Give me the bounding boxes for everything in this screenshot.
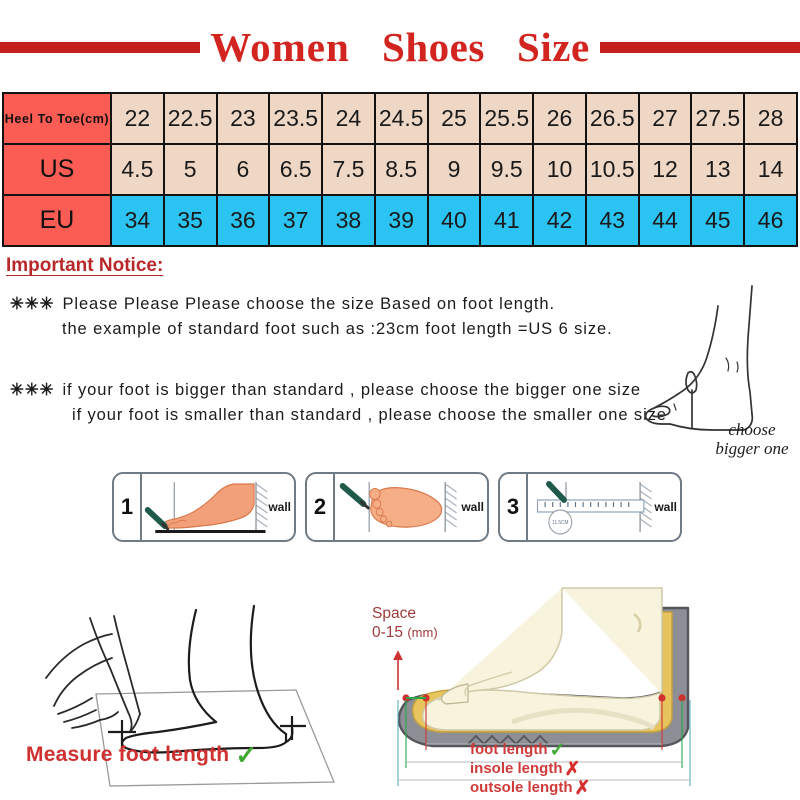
notice-block-2: ✳✳✳if your foot is bigger than standard … <box>10 378 710 428</box>
cell-eu: 44 <box>639 195 692 246</box>
dimension-label-text: foot length <box>470 741 547 758</box>
asterisk-marker: ✳✳✳ <box>10 381 54 399</box>
cell-eu: 40 <box>428 195 481 246</box>
cell-cm: 25 <box>428 93 481 144</box>
table-row: Heel To Toe(cm) 22 22.5 23 23.5 24 24.5 … <box>3 93 797 144</box>
cell-cm: 26 <box>533 93 586 144</box>
cell-us: 9 <box>428 144 481 195</box>
cell-cm: 22 <box>111 93 164 144</box>
cell-eu: 38 <box>322 195 375 246</box>
cell-eu: 39 <box>375 195 428 246</box>
notice-line: ✳✳✳if your foot is bigger than standard … <box>10 378 710 403</box>
cell-us: 5 <box>164 144 217 195</box>
table-row: EU 34 35 36 37 38 39 40 41 42 43 44 45 4… <box>3 195 797 246</box>
cell-cm: 27 <box>639 93 692 144</box>
cell-cm: 23.5 <box>269 93 322 144</box>
notice-text: the example of standard foot such as :23… <box>62 320 613 338</box>
notice-block-1: ✳✳✳Please Please Please choose the size … <box>10 292 710 342</box>
cell-cm: 23 <box>217 93 270 144</box>
step-panel-1: 1 <box>112 472 296 542</box>
foot-caption-line-2: bigger one <box>692 439 800 458</box>
cross-icon: ✗ <box>565 759 581 780</box>
row-label-eu: EU <box>3 195 111 246</box>
row-label-us: US <box>3 144 111 195</box>
dimension-label-text: insole length <box>470 760 563 777</box>
cell-cm: 24 <box>322 93 375 144</box>
cell-us: 8.5 <box>375 144 428 195</box>
notice-line: ✳✳✳Please Please Please choose the size … <box>10 292 710 317</box>
cell-eu: 45 <box>691 195 744 246</box>
space-label-line-1: Space <box>372 604 438 623</box>
space-label-unit: (mm) <box>407 625 437 640</box>
cell-us: 4.5 <box>111 144 164 195</box>
notice-line: if your foot is smaller than standard , … <box>10 403 710 428</box>
wall-label: wall <box>461 500 484 514</box>
page-title-word-2: Shoes <box>382 24 485 70</box>
step-panel-2: 2 <box>305 472 489 542</box>
cell-eu: 43 <box>586 195 639 246</box>
cell-eu: 37 <box>269 195 322 246</box>
cell-us: 6.5 <box>269 144 322 195</box>
cell-eu: 42 <box>533 195 586 246</box>
cell-cm: 27.5 <box>691 93 744 144</box>
cell-cm: 22.5 <box>164 93 217 144</box>
header-decorative-bar-left <box>0 42 200 53</box>
measure-foot-caption: Measure foot length✓ <box>26 742 257 768</box>
cell-us: 10 <box>533 144 586 195</box>
cross-icon: ✗ <box>575 778 591 799</box>
cell-us: 13 <box>691 144 744 195</box>
step-2-illustration: wall <box>335 474 487 540</box>
dimension-label-outsole-length: outsole length✗ <box>470 778 730 798</box>
cell-eu: 34 <box>111 195 164 246</box>
wall-label: wall <box>654 500 677 514</box>
step-number-1: 1 <box>114 474 142 540</box>
page-title-word-1: Women <box>210 24 349 70</box>
notice-text: if your foot is bigger than standard , p… <box>62 381 640 399</box>
cell-us: 9.5 <box>480 144 533 195</box>
cell-us: 12 <box>639 144 692 195</box>
size-conversion-table: Heel To Toe(cm) 22 22.5 23 23.5 24 24.5 … <box>2 92 798 247</box>
cell-cm: 26.5 <box>586 93 639 144</box>
cell-cm: 28 <box>744 93 797 144</box>
step-3-illustration: 11.5CM wall <box>528 474 680 540</box>
measurement-steps: 1 <box>112 472 682 542</box>
cell-us: 7.5 <box>322 144 375 195</box>
row-label-heel-to-toe: Heel To Toe(cm) <box>3 93 111 144</box>
check-icon: ✓ <box>549 740 565 761</box>
cell-eu: 36 <box>217 195 270 246</box>
foot-sketch-caption: choose bigger one <box>692 420 800 458</box>
page-title: Women Shoes Size <box>204 23 595 71</box>
table-row: US 4.5 5 6 6.5 7.5 8.5 9 9.5 10 10.5 12 … <box>3 144 797 195</box>
page-title-word-3: Size <box>517 24 590 70</box>
dimension-label-insole-length: insole length✗ <box>470 759 730 779</box>
cell-cm: 24.5 <box>375 93 428 144</box>
header-decorative-bar-right <box>600 42 800 53</box>
notice-line: the example of standard foot such as :23… <box>10 317 710 342</box>
magnifier-measure-text: 11.5CM <box>552 520 568 526</box>
space-annotation: Space 0-15 (mm) <box>372 604 438 642</box>
step-number-3: 3 <box>500 474 528 540</box>
dimension-label-text: outsole length <box>470 779 573 796</box>
step-number-2: 2 <box>307 474 335 540</box>
cell-us: 14 <box>744 144 797 195</box>
dimension-label-foot-length: foot length✓ <box>470 740 730 760</box>
notice-text: Please Please Please choose the size Bas… <box>62 295 555 313</box>
notice-text: if your foot is smaller than standard , … <box>72 406 667 424</box>
step-panel-3: 3 <box>498 472 682 542</box>
measure-caption-text: Measure foot length <box>26 743 229 766</box>
check-icon: ✓ <box>235 742 257 768</box>
space-label-value: 0-15 <box>372 624 403 641</box>
cell-eu: 35 <box>164 195 217 246</box>
cell-eu: 46 <box>744 195 797 246</box>
cell-eu: 41 <box>480 195 533 246</box>
cell-us: 10.5 <box>586 144 639 195</box>
foot-caption-line-1: choose <box>692 420 800 439</box>
page-header: Women Shoes Size <box>0 18 800 76</box>
asterisk-marker: ✳✳✳ <box>10 295 54 313</box>
cell-us: 6 <box>217 144 270 195</box>
important-notice-title: Important Notice: <box>6 255 163 277</box>
step-1-illustration: wall <box>142 474 294 540</box>
wall-label: wall <box>268 500 291 514</box>
cell-cm: 25.5 <box>480 93 533 144</box>
